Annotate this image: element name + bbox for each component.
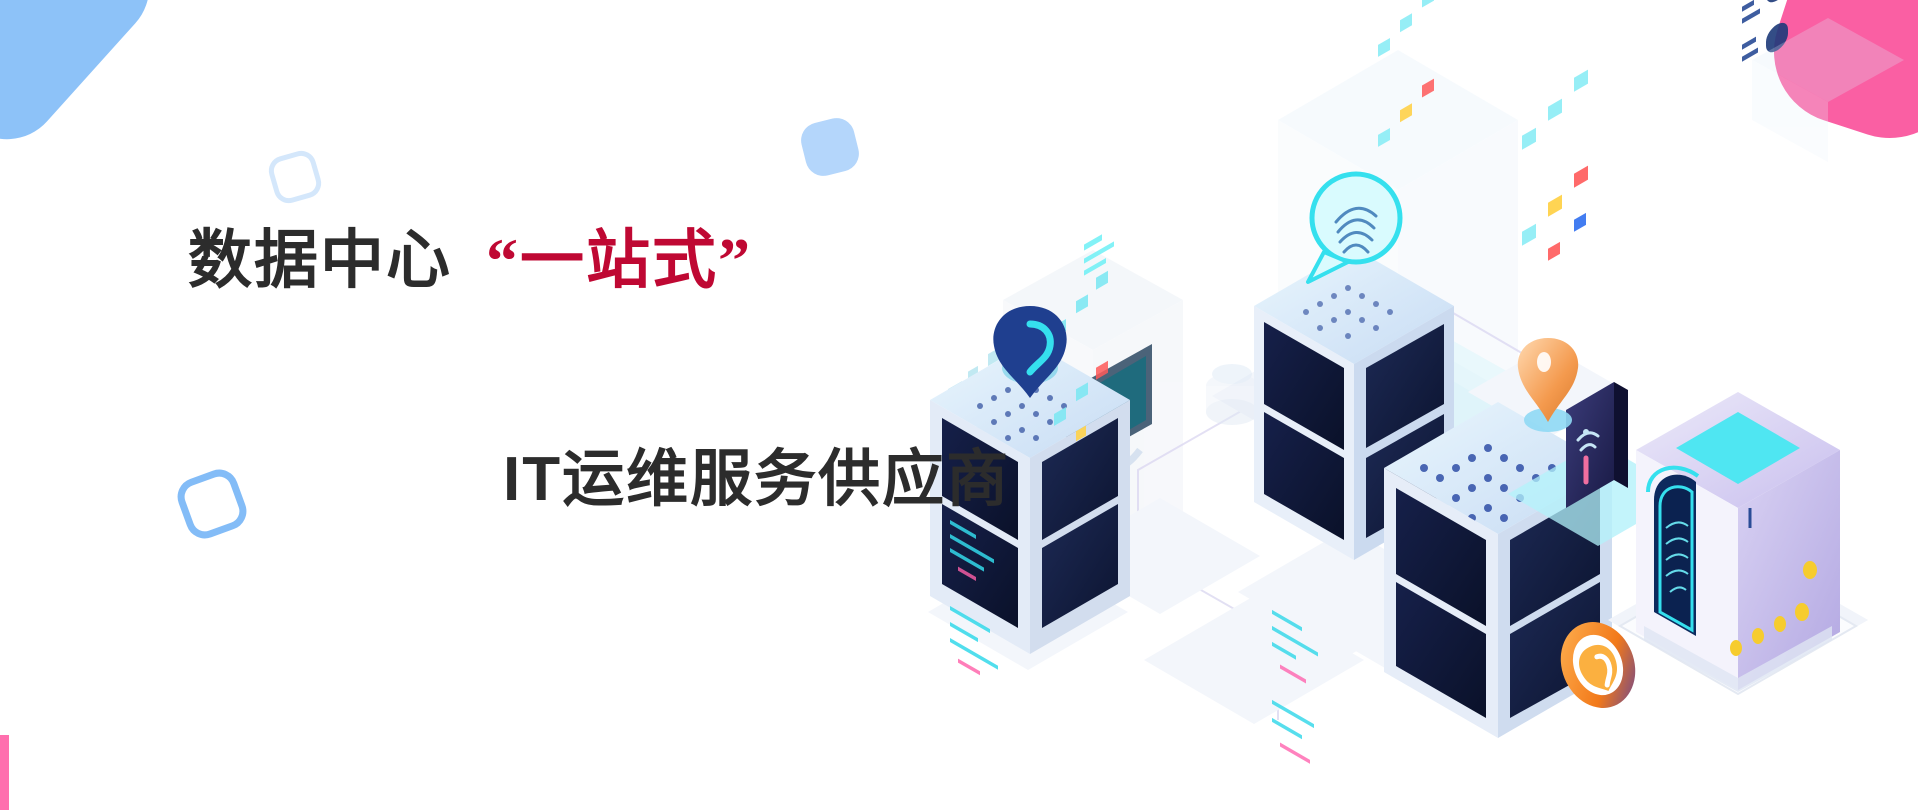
pink-edge-strip-icon bbox=[0, 735, 9, 810]
cloud-stack bbox=[1338, 338, 1558, 494]
spiral-badge-icon bbox=[993, 306, 1066, 398]
fingerprint-scan-bubble-icon bbox=[1308, 174, 1400, 282]
database-stack-small bbox=[1206, 364, 1258, 425]
close-quote: ” bbox=[718, 225, 752, 296]
server-rack-faded-tall bbox=[1278, 50, 1518, 470]
isometric-data-center-illustration bbox=[808, 0, 1918, 810]
headline-prefix: 数据中心 bbox=[188, 228, 452, 292]
open-quote: “ bbox=[486, 225, 520, 296]
headline-highlight-group: “一站式” bbox=[486, 228, 752, 293]
headline-line-1: 数据中心 “一站式” bbox=[188, 228, 1088, 293]
platforms bbox=[928, 346, 1868, 724]
small-blue-outline-square-icon bbox=[265, 147, 324, 206]
tablet-wifi-icon bbox=[1508, 382, 1688, 546]
server-rack-center bbox=[1254, 0, 1454, 764]
network-lines bbox=[988, 310, 1818, 720]
headline-block: 数据中心 “一站式” IT运维服务供应商 bbox=[188, 228, 1088, 293]
orange-swirl-badge-icon bbox=[1548, 611, 1648, 720]
large-blue-outline-square-icon bbox=[172, 464, 251, 543]
solid-blue-square-icon bbox=[797, 114, 862, 179]
rounded-pink-blob-icon bbox=[1755, 0, 1918, 157]
headline-highlight: 一站式 bbox=[520, 224, 718, 296]
location-pin-icon bbox=[1518, 338, 1578, 432]
headline-line-2: IT运维服务供应商 bbox=[503, 428, 1010, 518]
server-rack-front-right bbox=[1384, 70, 1612, 810]
rounded-blue-blob-icon bbox=[0, 0, 171, 161]
server-rack-faded-back bbox=[1003, 250, 1183, 632]
hero-banner: 数据中心 “一站式” IT运维服务供应商 bbox=[0, 0, 1918, 810]
